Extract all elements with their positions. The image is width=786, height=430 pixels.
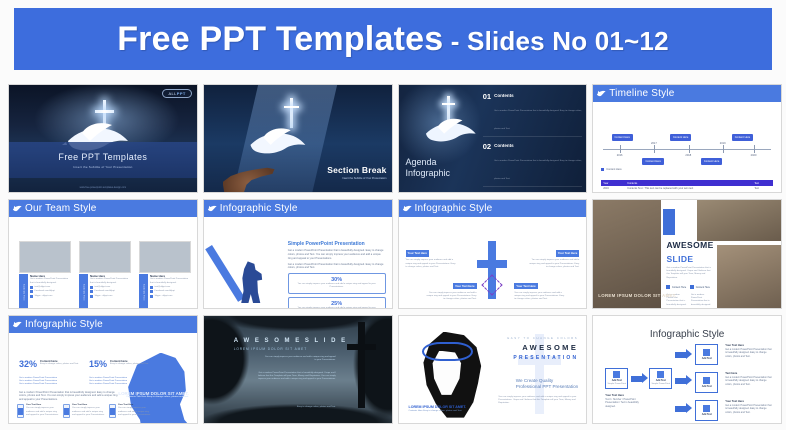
member-role: Get a modern PowerPoint Presentation tha… <box>30 278 71 285</box>
agenda-item-body: Get a modern PowerPoint Presentation tha… <box>494 160 582 180</box>
filter-icon <box>657 371 664 378</box>
dove-icon <box>421 117 479 147</box>
slide-header: Our Team Style <box>9 200 197 217</box>
flow-node-label: Add Text <box>702 357 712 360</box>
legend-label: Content Here <box>606 168 621 171</box>
stat-box[interactable]: 25% You can simply impress your audience… <box>288 297 386 309</box>
dove-icon <box>245 126 309 160</box>
slide-title: Section Break <box>327 165 386 175</box>
slide-body: Contents Here Name Here Get a modern Pow… <box>9 217 197 307</box>
awesome-body: Get a modern PowerPoint Presentation tha… <box>666 267 711 280</box>
timeline-year: 2018 <box>685 154 691 157</box>
device-body: You can simply impress your audience and… <box>118 407 151 417</box>
paragraph: Get a modern PowerPoint Presentation tha… <box>19 391 119 402</box>
stat-bullets: Get a modern PowerPoint Presentation Get… <box>19 377 79 387</box>
dove-icon <box>207 203 218 214</box>
text-block-label: Your Text Here <box>556 250 579 256</box>
slide-footer: www.free-powerpoint-templates-design.com <box>9 186 197 189</box>
mail-icon <box>30 286 33 289</box>
dove-icon <box>12 203 23 214</box>
title-band: Free PPT Templates Insert the Subtitle o… <box>9 142 197 178</box>
timeline-pill[interactable]: Content Here <box>701 158 722 165</box>
member-link[interactable]: Facebook.com/allppt <box>95 290 115 293</box>
text-block[interactable]: Your Text Here You can simply impress yo… <box>527 241 579 269</box>
flow-note: Your Text Here Text 1: Number / PowerPoi… <box>605 394 645 408</box>
timeline: Content Here Content Here Content Here C… <box>601 132 773 166</box>
lock-icon <box>613 371 620 378</box>
member-tab[interactable]: Contents Here <box>139 274 148 308</box>
mail-icon <box>90 286 93 289</box>
slide-title: Infographic Style <box>593 329 781 340</box>
overlay-text: LOREM IPSUM DOLOR SIT AMET. Contents Her… <box>409 405 467 413</box>
banner-title: Free PPT Templates - Slides No 01~12 <box>117 20 669 59</box>
bullet-item: Get a modern PowerPoint Presentation <box>89 383 149 386</box>
flow-node[interactable]: Add Text <box>695 344 718 365</box>
slide-header: Infographic Style <box>9 316 197 333</box>
slide-header-title: Timeline Style <box>609 88 674 99</box>
body-text: You can simply impress your audience and… <box>498 396 578 406</box>
text-block-body: You can simply impress your audience and… <box>527 259 579 269</box>
member-tab-label: Contents Here <box>83 284 85 301</box>
agenda-item-number: 01 <box>483 93 491 101</box>
blue-accent-block <box>663 209 675 235</box>
flow-note-body: Get a modern PowerPoint Presentation tha… <box>725 404 773 414</box>
awesome-title-line2: SLIDE <box>666 254 693 264</box>
content-button[interactable]: Content Here <box>690 285 710 289</box>
banner-title-main: Free PPT Templates <box>117 20 443 58</box>
flow-note-body: Get a modern PowerPoint Presentation tha… <box>725 376 773 386</box>
cross-carry-illustration <box>214 241 280 303</box>
cell-year: 2017 <box>601 192 625 193</box>
agenda-item-body: Get a modern PowerPoint Presentation tha… <box>494 110 582 130</box>
page-banner: Free PPT Templates - Slides No 01~12 <box>14 8 772 70</box>
body-2: Get a modern PowerPoint Presentation tha… <box>254 372 336 382</box>
text-block[interactable]: Your Text Here You can simply impress yo… <box>406 241 458 269</box>
dove-icon <box>596 88 607 99</box>
stat-caption: You can simply impress your audience and… <box>291 307 383 309</box>
agenda-item-number: 03 <box>483 192 491 193</box>
device-body: You can simply impress your audience and… <box>26 407 59 417</box>
flow-note-body: Text 1: Number / PowerPoint Presentation… <box>605 398 645 408</box>
overlay-sub: Contents Title Here Easy to change color… <box>118 396 188 399</box>
stat-sub: Easy to change colors, photos and Text. <box>40 363 79 366</box>
paragraph-2: Get a modern PowerPoint Presentation tha… <box>288 263 386 271</box>
slide-footer: Easy to change colors, photos and Text. <box>262 406 336 409</box>
timeline-year: 2016 <box>617 154 623 157</box>
stat-bullets: Get a modern PowerPoint Presentation Get… <box>89 377 149 387</box>
flow-node-sub: Simple PowerPoint <box>652 383 670 386</box>
overlay-text: LOREM IPSUM DOLOR SIT AMET. Contents Tit… <box>118 391 188 400</box>
diamond-outline <box>482 275 503 296</box>
content-button-label: Content Here <box>672 286 686 289</box>
flow-node-label: Add Text <box>656 379 666 382</box>
bullet-icon <box>690 285 694 289</box>
agenda-item-label: Contents <box>494 143 582 148</box>
mobile-icon <box>17 404 24 418</box>
timeline-table: Year Contents Text 2016Contents Text : T… <box>601 180 773 193</box>
document-icon <box>703 405 710 412</box>
member-tab[interactable]: Contents Here <box>79 274 88 308</box>
stat-group[interactable]: 15% Content Here Easy to change colors, … <box>89 359 151 369</box>
flow-arrow <box>675 352 687 358</box>
banner-title-sub: Slides No 01~12 <box>467 26 669 56</box>
table-row: 2017 <box>601 192 773 193</box>
member-link[interactable]: text@allppt.com <box>155 286 171 289</box>
slide-subtitle: Insert the Subtitle of Your Presentation <box>73 165 132 169</box>
device-item[interactable]: Your Text HereYou can simply impress you… <box>109 404 151 418</box>
awesome-subtitle: LOREM IPSUM DOLOR SIT AMET <box>234 347 307 351</box>
slide-body: Your Text Here You can simply impress yo… <box>399 217 587 307</box>
monitor-icon <box>109 404 116 418</box>
member-tab-label: Contents Here <box>23 284 25 301</box>
device-body: You can simply impress your audience and… <box>72 407 105 417</box>
flow-node[interactable]: Add Text Simple PowerPoint <box>605 368 628 389</box>
agenda-list: 01 ContentsGet a modern PowerPoint Prese… <box>483 93 583 193</box>
agenda-item-label: Contents <box>494 93 582 98</box>
flow-node[interactable]: Add Text Simple PowerPoint <box>649 368 672 389</box>
stat-value: 15% <box>89 359 107 369</box>
stat-caption: You can simply impress your audience and… <box>291 283 383 290</box>
cart-icon <box>703 377 710 384</box>
stat-sub: Easy to change colors, photos and Text. <box>110 363 149 366</box>
heading-part-a: Simple <box>288 241 306 247</box>
flow-note-body: Get a modern PowerPoint Presentation tha… <box>725 348 773 358</box>
slide-thumbnail-10[interactable]: A W E S O M E S L I D E LOREM IPSUM DOLO… <box>203 315 393 424</box>
slide-thumbnail-2[interactable]: Section Break Insert the Subtitle of You… <box>203 84 393 193</box>
member-role: Get a modern PowerPoint Presentation tha… <box>150 278 191 285</box>
slide-thumbnail-5[interactable]: Our Team Style Contents Here Name Here G… <box>8 199 198 308</box>
flow-note: Text Here Get a modern PowerPoint Presen… <box>725 372 773 386</box>
member-role: Get a modern PowerPoint Presentation tha… <box>90 278 131 285</box>
flow-node-label: Add Text <box>612 379 622 382</box>
dove-icon <box>402 203 413 214</box>
facebook-icon <box>90 290 93 293</box>
timeline-year: 2019 <box>720 142 726 145</box>
text-block-label: Your Text Here <box>406 250 429 256</box>
device-item[interactable]: Your Text HereYou can simply impress you… <box>17 404 59 418</box>
awesome-title-line1: AWESOME <box>666 240 713 250</box>
timeline-pill[interactable]: Content Here <box>612 134 633 141</box>
slide-thumbnail-4[interactable]: Timeline Style Content Here Content Here… <box>592 84 782 193</box>
heading-part-c: Presentation <box>333 241 365 247</box>
member-tab-label: Contents Here <box>143 284 145 301</box>
team-card[interactable]: Contents Here Name Here Get a modern Pow… <box>79 241 131 273</box>
slide-body: Content Here Content Here Content Here C… <box>593 102 781 192</box>
text-block[interactable]: Your Text Here You can simply impress yo… <box>514 274 566 302</box>
slide-header-title: Infographic Style <box>220 203 298 214</box>
content-button[interactable]: Content Here <box>666 285 686 289</box>
slide-header-title: Infographic Style <box>25 319 103 330</box>
text-block-body: You can simply impress your audience and… <box>425 292 477 302</box>
text-block[interactable]: Your Text Here You can simply impress yo… <box>425 274 477 302</box>
slide-title: Free PPT Templates <box>58 152 147 162</box>
allppt-badge: ALLPPT <box>162 89 191 98</box>
cell-contents <box>625 192 752 193</box>
slide-thumbnail-11[interactable]: EASY TO CHANGE COLORS AWESOME PRESENTATI… <box>398 315 588 424</box>
flow-node-sub: Simple PowerPoint <box>608 383 626 386</box>
skype-icon <box>90 295 93 298</box>
flow-node[interactable]: Add Text <box>695 372 718 393</box>
slide-thumbnail-3[interactable]: Agenda Infographic 01 ContentsGet a mode… <box>398 84 588 193</box>
cloud-icon <box>703 349 710 356</box>
member-link[interactable]: Skype : allppt.com <box>35 295 53 298</box>
bullet-icon <box>666 285 670 289</box>
flow-arrow <box>631 376 643 382</box>
slide-subtitle: Insert the Subtitle of Your Presentation <box>327 177 386 180</box>
tagline-line2: Professional PPT Presentation <box>516 384 578 390</box>
facebook-icon <box>30 290 33 293</box>
awesome-title: A W E S O M E S L I D E <box>234 338 347 344</box>
text-block-label: Your Text Here <box>453 283 476 289</box>
timeline-year: 2020 <box>751 154 757 157</box>
flow-node-label: Add Text <box>702 385 712 388</box>
member-tab[interactable]: Contents Here <box>19 274 28 308</box>
team-card[interactable]: Contents Here Name Here Get a modern Pow… <box>19 241 71 273</box>
stat-value: 32% <box>19 359 37 369</box>
text-block-body: You can simply impress your audience and… <box>514 292 566 302</box>
timeline-axis <box>603 149 771 150</box>
member-photo <box>19 241 71 273</box>
button-body: Get a modern PowerPoint Presentation tha… <box>691 294 714 307</box>
timeline-year: 2017 <box>651 142 657 145</box>
member-link[interactable]: Skype : allppt.com <box>95 295 113 298</box>
slide-thumbnail-7[interactable]: Infographic Style Your Text Here You can… <box>398 199 588 308</box>
slide-header: Infographic Style <box>204 200 392 217</box>
slide-body: LOREM IPSUM DOLOR SIT AMET. Contents Tit… <box>9 333 197 423</box>
team-card[interactable]: Contents Here Name Here Get a modern Pow… <box>139 241 191 273</box>
eyebrow-text: EASY TO CHANGE COLORS <box>507 336 578 340</box>
title-line1: AWESOME <box>522 343 578 352</box>
content-button-label: Content Here <box>696 286 710 289</box>
tablet-icon <box>63 404 70 418</box>
timeline-legend: Content Here <box>601 168 621 171</box>
member-link[interactable]: text@allppt.com <box>35 286 51 289</box>
banner-title-separator: - <box>443 26 467 56</box>
member-photo <box>79 241 131 273</box>
dove-icon <box>12 319 23 330</box>
text-block-body: You can simply impress your audience and… <box>406 259 458 269</box>
timeline-pill[interactable]: Content Here <box>642 158 663 165</box>
tagline: We Create Quality Professional PPT Prese… <box>516 378 578 390</box>
facebook-icon <box>150 290 153 293</box>
device-item[interactable]: Your Text HereYou can simply impress you… <box>63 404 105 418</box>
agenda-item-label: Contents <box>494 192 582 193</box>
flow-node[interactable]: Add Text <box>695 400 718 421</box>
agenda-item[interactable]: 02 ContentsGet a modern PowerPoint Prese… <box>483 143 583 187</box>
slide-thumbnail-9[interactable]: Infographic Style LOREM IPSUM DOLOR SIT … <box>8 315 198 424</box>
section-heading: Simple PowerPoint Presentation <box>288 241 386 247</box>
agenda-item[interactable]: 01 ContentsGet a modern PowerPoint Prese… <box>483 93 583 137</box>
stat-box[interactable]: 30% You can simply impress your audience… <box>288 273 386 294</box>
member-link[interactable]: Skype : allppt.com <box>155 295 173 298</box>
cell-text <box>752 192 773 193</box>
member-photo <box>139 241 191 273</box>
photo-left <box>593 200 661 307</box>
skype-icon <box>150 295 153 298</box>
timeline-pill[interactable]: Content Here <box>732 134 753 141</box>
slide-body: Simple PowerPoint Presentation Get a mod… <box>204 217 392 307</box>
crown-of-thorns-icon <box>422 342 473 361</box>
slide-thumbnail-1[interactable]: ALLPPT Free PPT Templates Insert the Sub… <box>8 84 198 193</box>
slide-header-title: Our Team Style <box>25 203 97 214</box>
title-line2: PRESENTATION <box>513 355 578 361</box>
slide-thumbnail-6[interactable]: Infographic Style Simple PowerPoint Pres… <box>203 199 393 308</box>
agenda-item[interactable]: 03 ContentsGet a modern PowerPoint Prese… <box>483 192 583 193</box>
overlay-sub: Contents Here Easy to change colors, pho… <box>409 410 467 413</box>
paragraph-1: Get a modern PowerPoint Presentation tha… <box>288 249 386 260</box>
photo-bottom-right <box>717 245 781 307</box>
body-1: You can simply impress your audience and… <box>264 356 336 363</box>
flow-arrow <box>675 406 687 412</box>
agenda-title-line2: Infographic <box>406 168 451 179</box>
device-row: Your Text HereYou can simply impress you… <box>17 404 151 418</box>
agenda-item-number: 02 <box>483 143 491 151</box>
stat-group[interactable]: 32% Content Here Easy to change colors, … <box>19 359 81 369</box>
agenda-title: Agenda Infographic <box>406 157 451 178</box>
member-link[interactable]: text@allppt.com <box>95 286 111 289</box>
legend-swatch <box>601 168 604 171</box>
cross-diagram <box>477 241 507 299</box>
bullet-item: Get a modern PowerPoint Presentation <box>19 383 79 386</box>
section-break-text: Section Break Insert the Subtitle of You… <box>327 165 386 180</box>
flow-node-label: Add Text <box>702 413 712 416</box>
slide-thumbnail-grid: ALLPPT Free PPT Templates Insert the Sub… <box>8 84 782 424</box>
flow-arrow <box>675 378 687 384</box>
skype-icon <box>30 295 33 298</box>
overlay-text: LOREM IPSUM DOLOR SIT AMET. <box>598 293 676 299</box>
slide-header-title: Infographic Style <box>415 203 493 214</box>
mail-icon <box>150 286 153 289</box>
member-link[interactable]: Facebook.com/allppt <box>155 290 175 293</box>
member-link[interactable]: Facebook.com/allppt <box>35 290 55 293</box>
slide-thumbnail-12[interactable]: Infographic Style Add Text Simple PowerP… <box>592 315 782 424</box>
flow-note: Your Text Here Get a modern PowerPoint P… <box>725 344 773 358</box>
slide-header: Infographic Style <box>399 200 587 217</box>
photo-top-right <box>697 200 781 241</box>
flow-note: Your Text Here Get a modern PowerPoint P… <box>725 400 773 414</box>
slide-thumbnail-8[interactable]: AWESOME SLIDE Get a modern PowerPoint Pr… <box>592 199 782 308</box>
slide-header: Timeline Style <box>593 85 781 102</box>
timeline-pill[interactable]: Content Here <box>670 134 691 141</box>
heading-part-b: PowerPoint <box>306 241 334 247</box>
agenda-title-line1: Agenda <box>406 157 451 168</box>
text-block-label: Your Text Here <box>514 283 537 289</box>
